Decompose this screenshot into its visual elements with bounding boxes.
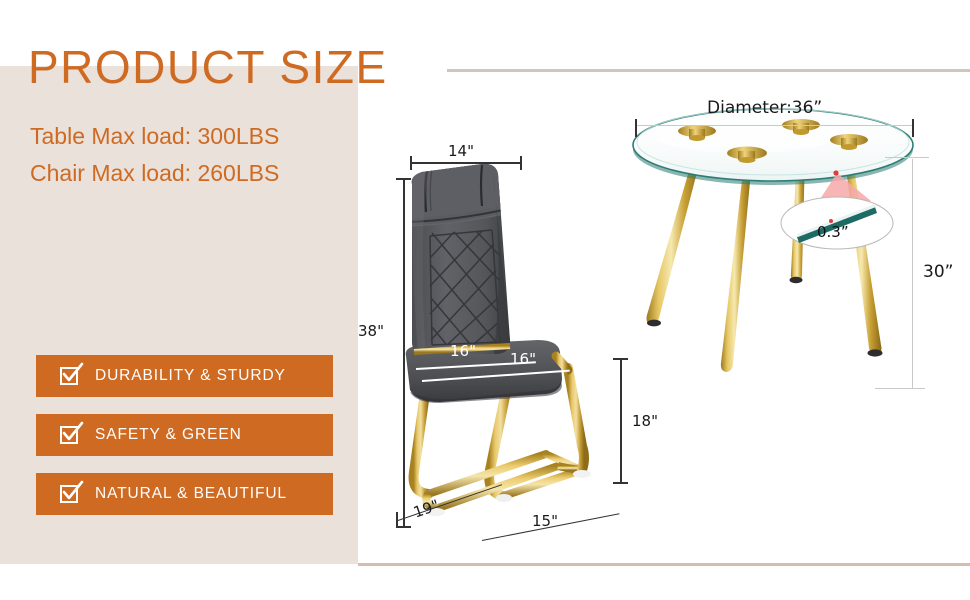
chair-back-width-dimline xyxy=(410,162,522,164)
table-max-load-text: Table Max load: 300LBS xyxy=(30,118,279,155)
chair-back-width-tick-left xyxy=(410,156,412,170)
max-load-specs: Table Max load: 300LBS Chair Max load: 2… xyxy=(30,118,279,193)
feature-badge-durability[interactable]: DURABILITY & STURDY xyxy=(36,355,333,397)
page-title: PRODUCT SIZE xyxy=(28,40,388,94)
feature-badge-label: DURABILITY & STURDY xyxy=(95,367,286,385)
checkbox-checked-icon xyxy=(60,424,82,446)
feature-badge-natural[interactable]: NATURAL & BEAUTIFUL xyxy=(36,473,333,515)
chair-height-tick-bottom xyxy=(396,526,411,528)
table-diameter-tick-right xyxy=(912,119,914,137)
table-height-tick-bottom xyxy=(875,388,925,389)
chair-back-width-label: 14" xyxy=(448,142,474,160)
chair-back-width-tick-right xyxy=(520,156,522,170)
footer-divider-line xyxy=(358,563,970,566)
feature-badge-safety[interactable]: SAFETY & GREEN xyxy=(36,414,333,456)
table-drawing xyxy=(625,95,955,395)
chair-seat-depth-label: 16" xyxy=(510,350,536,368)
chair-drawing xyxy=(370,140,660,540)
table-illustration: Diameter:36” 30” 0.3” xyxy=(625,95,955,395)
table-diameter-label: Diameter:36” xyxy=(707,98,822,118)
chair-height-label: 38" xyxy=(358,322,384,340)
table-diameter-dimline xyxy=(635,125,914,126)
table-height-label: 30” xyxy=(923,262,953,282)
chair-illustration: 14" 38" 16" 16" 18" 19" 15" xyxy=(370,140,660,540)
checkbox-checked-icon xyxy=(60,483,82,505)
chair-seat-width-label: 16" xyxy=(450,342,476,360)
chair-height-tick-top xyxy=(396,178,411,180)
chair-seat-height-label: 18" xyxy=(632,412,658,430)
chair-base-depth-tick xyxy=(396,512,398,526)
chair-base-width-label: 15" xyxy=(532,512,558,530)
product-size-infographic: PRODUCT SIZE Table Max load: 300LBS Chai… xyxy=(0,0,970,600)
feature-badge-label: NATURAL & BEAUTIFUL xyxy=(95,485,287,503)
table-height-tick-top xyxy=(885,157,929,158)
table-height-dimline xyxy=(912,159,913,389)
checkbox-checked-icon xyxy=(60,365,82,387)
table-diameter-tick-left xyxy=(635,119,637,137)
glass-thickness-label: 0.3” xyxy=(817,223,849,241)
chair-seat-height-tick-bottom xyxy=(613,482,628,484)
feature-badge-label: SAFETY & GREEN xyxy=(95,426,242,444)
feature-badge-list: DURABILITY & STURDY SAFETY & GREEN NATUR… xyxy=(36,355,333,532)
chair-seat-height-dimline xyxy=(620,358,622,484)
chair-height-dimline xyxy=(403,178,405,528)
chair-max-load-text: Chair Max load: 260LBS xyxy=(30,155,279,192)
header-divider-line xyxy=(447,69,970,72)
